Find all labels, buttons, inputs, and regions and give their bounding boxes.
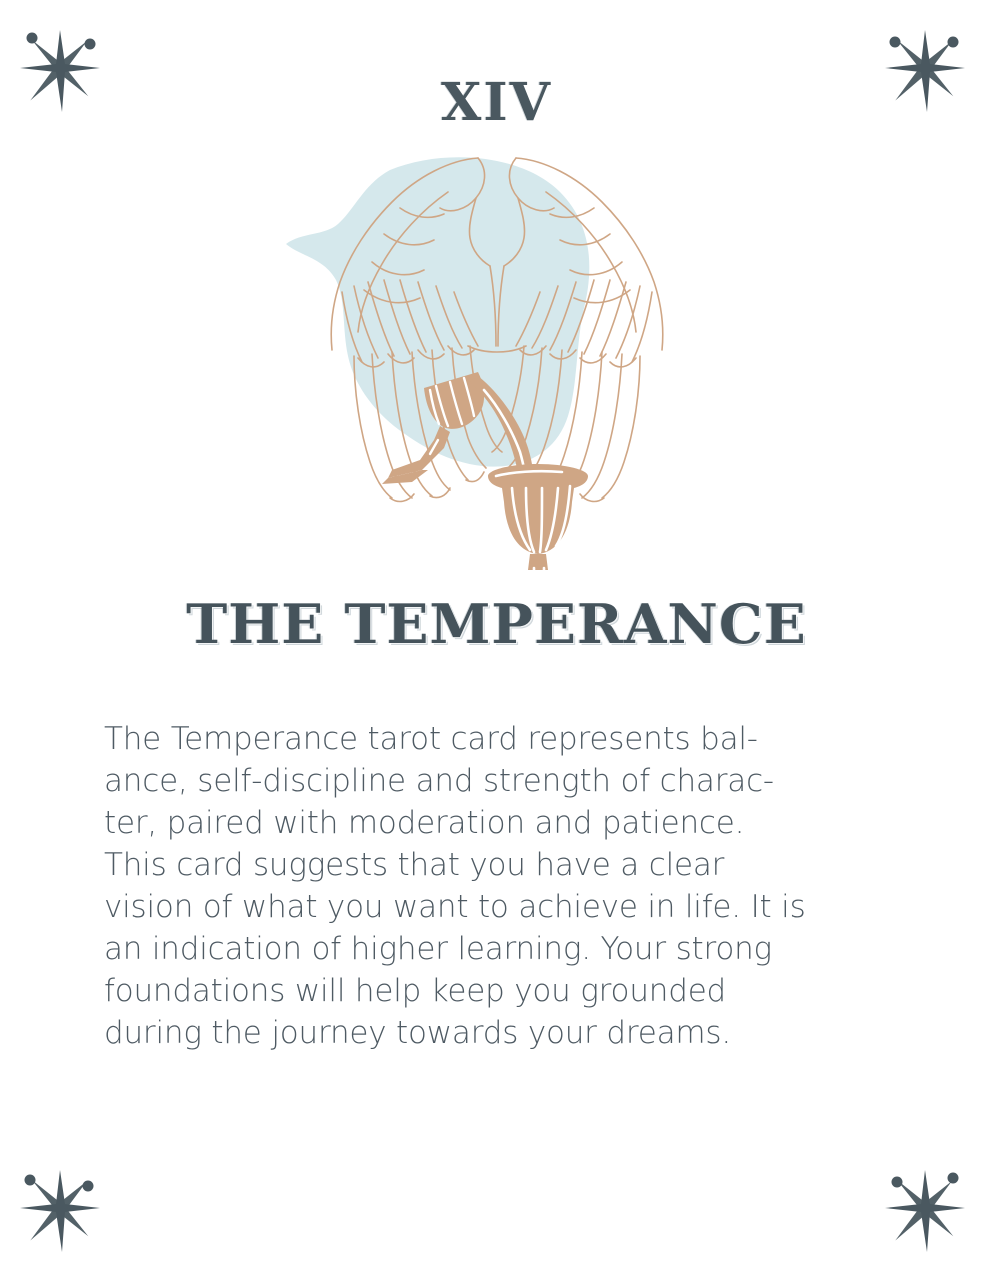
description-line: foundations will help keep you grounded xyxy=(104,970,890,1012)
description-line: ter, paired with moderation and patience… xyxy=(104,802,890,844)
description-line: The Temperance tarot card represents bal… xyxy=(104,718,890,760)
description-line: ance, self-discipline and strength of ch… xyxy=(104,760,890,802)
upright-cup xyxy=(488,464,588,570)
sparkle-star-icon-bottom-right xyxy=(873,1152,985,1264)
description-line: during the journey towards your dreams. xyxy=(104,1012,890,1054)
card-illustration xyxy=(272,140,722,570)
description-line: This card suggests that you have a clear xyxy=(104,844,890,886)
description-line: vision of what you want to achieve in li… xyxy=(104,886,890,928)
sparkle-star-icon-bottom-left xyxy=(8,1152,120,1264)
card-description: The Temperance tarot card represents bal… xyxy=(104,718,890,1054)
description-line: an indication of higher learning. Your s… xyxy=(104,928,890,970)
card-title: THE TEMPERANCE xyxy=(0,592,993,656)
card-numeral: XIV xyxy=(0,72,993,133)
tarot-card: XIV xyxy=(0,0,993,1276)
